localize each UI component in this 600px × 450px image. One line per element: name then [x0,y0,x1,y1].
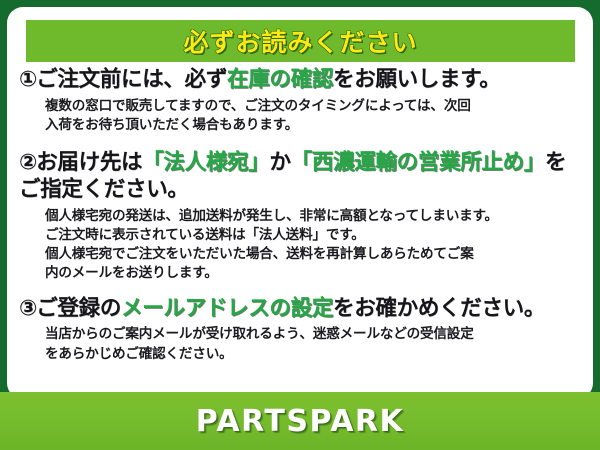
notice-item-2-number: ② [19,150,36,175]
page-title: 必ずお読みください [183,23,417,59]
notice-item-2-body-line-3: 個人様宅宛でご注文をいただいた場合、送料を再計算しあらためてご案 [45,245,583,264]
notice-item-2-text-part-2: か [269,150,290,175]
notice-item-3-heading: ③ご登録のメールアドレスの設定をお確かめください。 [19,296,583,323]
notice-card: 必ずお読みください ①ご注文前には、必ず在庫の確認をお願いします。 複数の窓口で… [7,7,593,399]
notice-item-2-text-part-1: お届け先は [36,150,142,175]
notice-item-2: ②お届け先は「法人様宛」か「西濃運輸の営業所止め」をご指定ください。 個人様宅宛… [19,150,583,284]
notice-item-2-heading: ②お届け先は「法人様宛」か「西濃運輸の営業所止め」をご指定ください。 [19,150,583,203]
notice-item-3-body-line-2: をあらかじめご確認ください。 [45,345,583,364]
notice-item-1-heading: ①ご注文前には、必ず在庫の確認をお願いします。 [19,67,583,94]
notice-item-1-body-line-2: 入荷をお待ち頂いただく場合もあります。 [45,116,583,135]
notice-item-1-text-part-1: ご注文前には、必ず [36,67,227,92]
notice-item-2-body: 個人様宅宛の発送は、追加送料が発生し、非常に高額となってしまいます。 ご注文時に… [19,207,583,284]
notice-item-3-number: ③ [19,296,36,321]
notice-item-3-text-part-2: をお確かめください。 [333,296,545,321]
notice-item-1: ①ご注文前には、必ず在庫の確認をお願いします。 複数の窓口で販売してますので、ご… [19,67,583,135]
notice-item-1-body-line-1: 複数の窓口で販売してますので、ご注文のタイミングによっては、次回 [45,97,583,116]
notice-items: ①ご注文前には、必ず在庫の確認をお願いします。 複数の窓口で販売してますので、ご… [7,67,593,366]
notice-item-2-accent-2: 「西濃運輸の営業所止め」 [291,150,545,175]
brand-logo: PARTSPARK [196,404,405,439]
notice-item-2-body-line-2: ご注文時に表示されている送料は「法人送料」です。 [45,226,583,245]
notice-item-3-body-line-1: 当店からのご案内メールが受け取れるよう、迷惑メールなどの受信設定 [45,325,583,344]
notice-item-2-accent-1: 「法人様宛」 [142,150,269,175]
notice-item-1-accent-1: 在庫の確認 [227,67,333,92]
notice-item-2-body-line-4: 内のメールをお送りします。 [45,264,583,283]
header-band: 必ずお読みください [26,20,575,62]
notice-item-3: ③ご登録のメールアドレスの設定をお確かめください。 当店からのご案内メールが受け… [19,296,583,364]
notice-poster: 必ずお読みください ①ご注文前には、必ず在庫の確認をお願いします。 複数の窓口で… [0,0,600,450]
footer-band: PARTSPARK [0,392,600,450]
notice-item-3-accent-1: メールアドレスの設定 [121,296,333,321]
spacer-1 [19,137,583,150]
notice-item-1-text-part-2: をお願いします。 [333,67,500,92]
spacer-2 [19,286,583,296]
notice-item-1-body: 複数の窓口で販売してますので、ご注文のタイミングによっては、次回 入荷をお待ち頂… [19,97,583,136]
notice-item-2-body-line-1: 個人様宅宛の発送は、追加送料が発生し、非常に高額となってしまいます。 [45,207,583,226]
notice-item-1-number: ① [19,67,36,92]
notice-item-3-body: 当店からのご案内メールが受け取れるよう、迷惑メールなどの受信設定 をあらかじめご… [19,325,583,364]
notice-item-3-text-part-1: ご登録の [36,296,121,321]
